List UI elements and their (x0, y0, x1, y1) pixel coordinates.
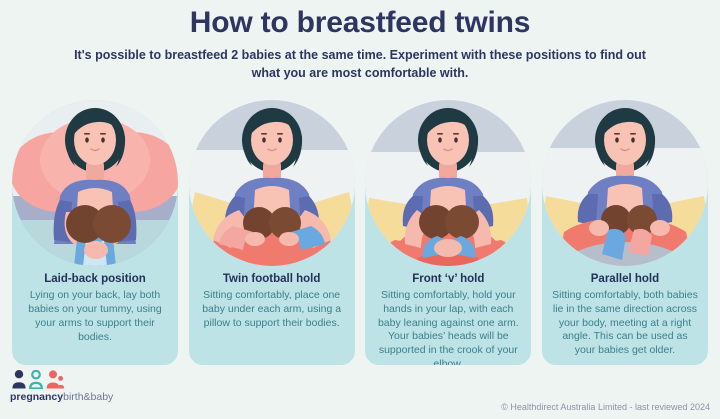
position-cards-row: Laid-back position Lying on your back, l… (0, 100, 720, 366)
card-twin-football[interactable]: Twin football hold Sitting comfortably, … (189, 100, 355, 365)
card-title: Parallel hold (551, 272, 699, 286)
card-body: Sitting comfortably, hold your hands in … (374, 289, 522, 365)
caption-laid-back: Laid-back position Lying on your back, l… (12, 272, 178, 345)
caption-parallel: Parallel hold Sitting comfortably, both … (542, 272, 708, 358)
card-title: Laid-back position (21, 272, 169, 286)
illustration-parallel (542, 100, 708, 266)
copyright-text: © Healthdirect Australia Limited - last … (501, 402, 710, 412)
brand-wordmark: pregnancybirth&baby (10, 391, 113, 403)
three-parent-and-baby-figures-icon (10, 370, 66, 389)
caption-front-v: Front ‘v’ hold Sitting comfortably, hold… (365, 272, 531, 365)
illustration-laid-back (12, 100, 178, 266)
card-laid-back[interactable]: Laid-back position Lying on your back, l… (12, 100, 178, 365)
brand-logo[interactable]: pregnancybirth&baby (10, 370, 113, 403)
card-parallel[interactable]: Parallel hold Sitting comfortably, both … (542, 100, 708, 365)
page-subtitle: It's possible to breastfeed 2 babies at … (60, 46, 660, 82)
illustration-twin-football (189, 100, 355, 266)
brand-word-bold: pregnancy (10, 391, 63, 403)
page-title: How to breastfeed twins (0, 6, 720, 39)
card-title: Front ‘v’ hold (374, 272, 522, 286)
infographic-page: How to breastfeed twins It's possible to… (0, 0, 720, 419)
card-body: Sitting comfortably, place one baby unde… (198, 289, 346, 331)
card-body: Sitting comfortably, both babies lie in … (551, 289, 699, 357)
brand-word-light: birth&baby (63, 391, 113, 403)
card-front-v[interactable]: Front ‘v’ hold Sitting comfortably, hold… (365, 100, 531, 365)
illustration-front-v (365, 100, 531, 266)
caption-twin-football: Twin football hold Sitting comfortably, … (189, 272, 355, 331)
footer: pregnancybirth&baby © Healthdirect Austr… (0, 366, 720, 419)
header: How to breastfeed twins It's possible to… (0, 0, 720, 82)
card-title: Twin football hold (198, 272, 346, 286)
card-body: Lying on your back, lay both babies on y… (21, 289, 169, 345)
